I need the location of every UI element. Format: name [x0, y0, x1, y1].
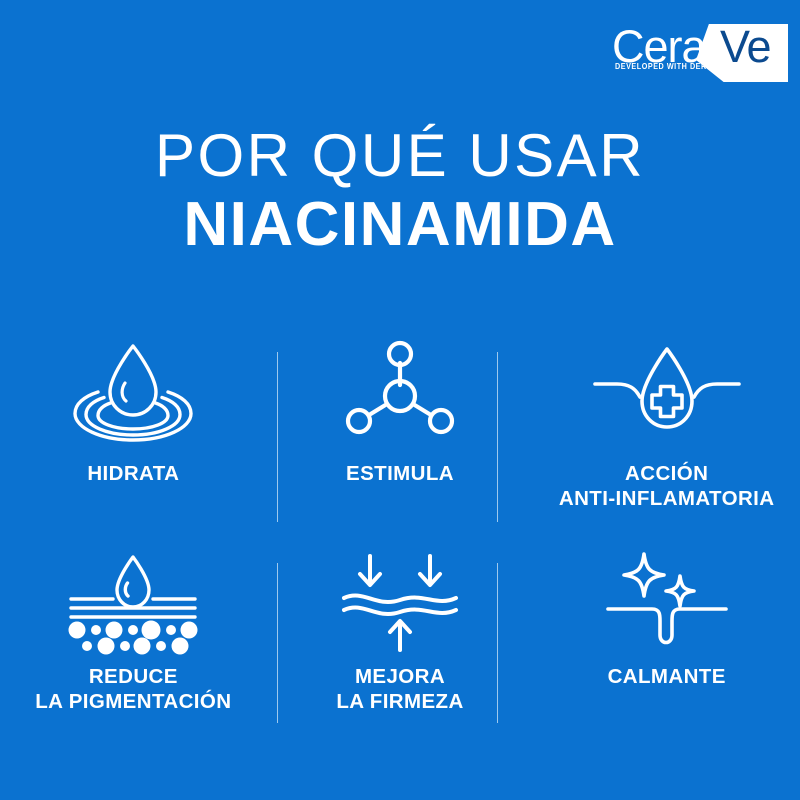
drop-medical-cross-icon	[592, 330, 742, 455]
logo-tagline: DEVELOPED WITH DERMATOLOGISTS	[615, 61, 765, 71]
cerave-logo: Cera Ve DEVELOPED WITH DERMATOLOGISTS	[612, 24, 788, 82]
drop-skin-pigment-dots-icon	[58, 545, 208, 660]
benefit-item-calmante: CALMANTE	[533, 545, 800, 750]
benefit-item-pigmentacion: REDUCE LA PIGMENTACIÓN	[0, 545, 267, 750]
molecule-icon	[325, 330, 475, 455]
page-title: POR QUÉ USAR NIACINAMIDA	[0, 124, 800, 260]
benefits-row-top: HIDRATA ESTIMULA	[0, 330, 800, 545]
benefit-label: HIDRATA	[87, 461, 179, 486]
benefit-label: MEJORA LA FIRMEZA	[336, 664, 463, 714]
title-line-2: NIACINAMIDA	[0, 190, 800, 260]
benefits-grid: HIDRATA ESTIMULA	[0, 330, 800, 750]
sparkles-pore-icon	[592, 545, 742, 660]
water-drop-ripples-icon	[58, 330, 208, 455]
benefit-label: REDUCE LA PIGMENTACIÓN	[35, 664, 231, 714]
poster-canvas: Cera Ve DEVELOPED WITH DERMATOLOGISTS PO…	[0, 0, 800, 800]
benefit-label: ESTIMULA	[346, 461, 454, 486]
benefit-item-hidrata: HIDRATA	[0, 330, 267, 545]
title-line-1: POR QUÉ USAR	[0, 124, 800, 188]
arrows-wavy-lines-firmness-icon	[325, 545, 475, 660]
benefit-item-firmeza: MEJORA LA FIRMEZA	[267, 545, 534, 750]
benefit-item-antiinflamatoria: ACCIÓN ANTI-INFLAMATORIA	[533, 330, 800, 545]
benefit-item-estimula: ESTIMULA	[267, 330, 534, 545]
benefit-label: CALMANTE	[608, 664, 726, 689]
benefits-row-bottom: REDUCE LA PIGMENTACIÓN MEJ	[0, 545, 800, 750]
benefit-label: ACCIÓN ANTI-INFLAMATORIA	[559, 461, 775, 511]
